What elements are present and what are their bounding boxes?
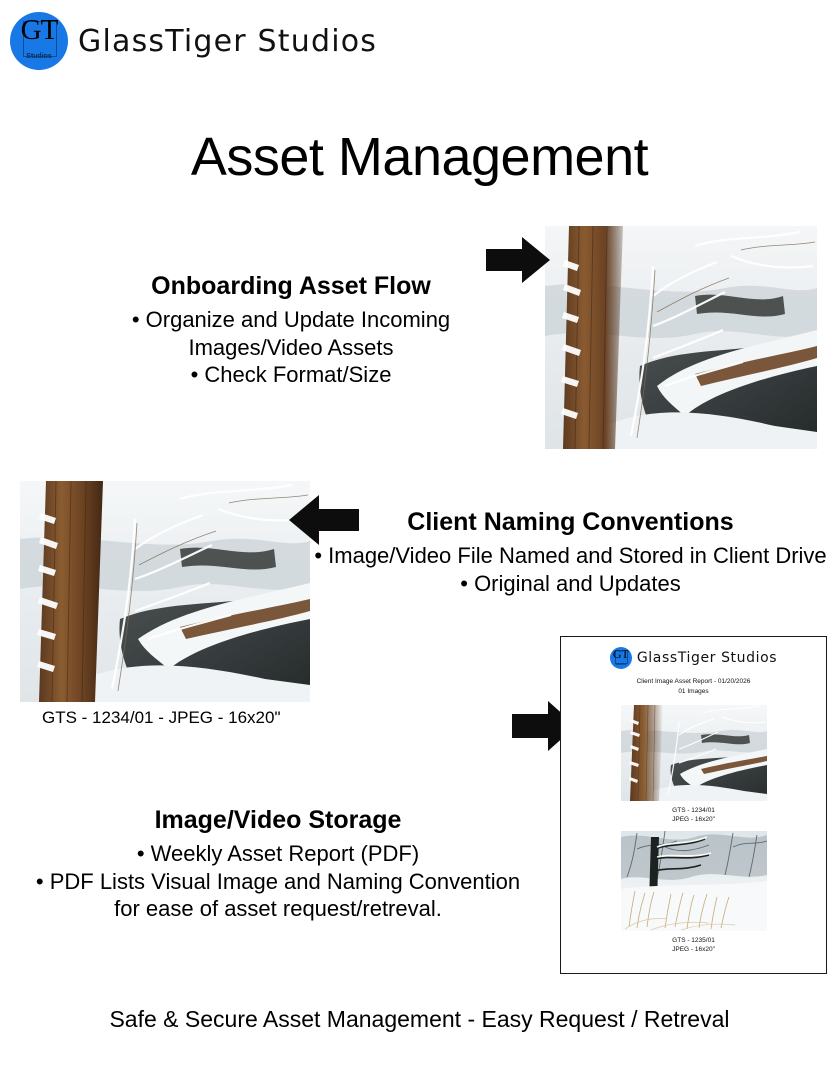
section-onboarding-line-1: • Organize and Update Incoming xyxy=(56,306,526,334)
logo-subtext: Studios xyxy=(10,53,68,60)
winter-creek-thumbnail xyxy=(621,705,767,801)
pdf-entry-1-spec: JPEG - 16x20" xyxy=(561,816,826,823)
section-onboarding-heading: Onboarding Asset Flow xyxy=(56,272,526,300)
section-naming-line-1: • Image/Video File Named and Stored in C… xyxy=(302,542,839,570)
photo-client-naming-asset xyxy=(20,481,310,702)
winter-creek-photo xyxy=(20,481,310,702)
pdf-report-subtitle: 01 Images xyxy=(561,688,826,695)
section-naming: Client Naming Conventions • Image/Video … xyxy=(302,508,839,597)
logo-subtext-small: Studios xyxy=(610,662,632,666)
pdf-report-preview[interactable]: GT Studios GlassTiger Studios Client Ima… xyxy=(560,636,827,974)
pdf-report-title: Client Image Asset Report - 01/20/2026 xyxy=(561,678,826,685)
pdf-entry-thumbnail-2 xyxy=(621,831,767,931)
pdf-entry-2-spec: JPEG - 16x20" xyxy=(561,946,826,953)
section-naming-line-2: • Original and Updates xyxy=(302,570,839,598)
section-naming-heading: Client Naming Conventions xyxy=(302,508,839,536)
brand-name: GlassTiger Studios xyxy=(78,24,377,59)
winter-creek-photo xyxy=(545,226,817,449)
logo-initials: GT xyxy=(10,16,68,45)
section-storage-line-3: for ease of asset request/retreval. xyxy=(0,895,556,923)
pdf-entry-1-id: GTS - 1234/01 xyxy=(561,807,826,814)
section-onboarding: Onboarding Asset Flow • Organize and Upd… xyxy=(56,272,526,389)
photo-onboarding-asset xyxy=(545,226,817,449)
pdf-brand-header: GT Studios GlassTiger Studios xyxy=(561,647,826,669)
pdf-entry-2-id: GTS - 1235/01 xyxy=(561,937,826,944)
glasstiger-logo-icon-small: GT Studios xyxy=(610,647,632,669)
brand-header: GT Studios GlassTiger Studios xyxy=(10,12,377,70)
logo-initials-small: GT xyxy=(610,648,632,660)
page-title: Asset Management xyxy=(0,126,839,188)
photo-left-caption: GTS - 1234/01 - JPEG - 16x20" xyxy=(42,708,280,728)
section-storage-line-2: • PDF Lists Visual Image and Naming Conv… xyxy=(0,868,556,896)
section-onboarding-line-2: Images/Video Assets xyxy=(56,334,526,362)
glasstiger-logo-icon: GT Studios xyxy=(10,12,68,70)
snowy-field-thumbnail xyxy=(621,831,767,931)
section-onboarding-line-3: • Check Format/Size xyxy=(56,361,526,389)
section-storage-heading: Image/Video Storage xyxy=(0,806,556,834)
section-storage-line-1: • Weekly Asset Report (PDF) xyxy=(0,840,556,868)
pdf-entry-thumbnail-1 xyxy=(621,705,767,801)
section-storage: Image/Video Storage • Weekly Asset Repor… xyxy=(0,806,556,923)
footer-tagline: Safe & Secure Asset Management - Easy Re… xyxy=(0,1006,839,1033)
pdf-brand-name: GlassTiger Studios xyxy=(637,650,777,666)
